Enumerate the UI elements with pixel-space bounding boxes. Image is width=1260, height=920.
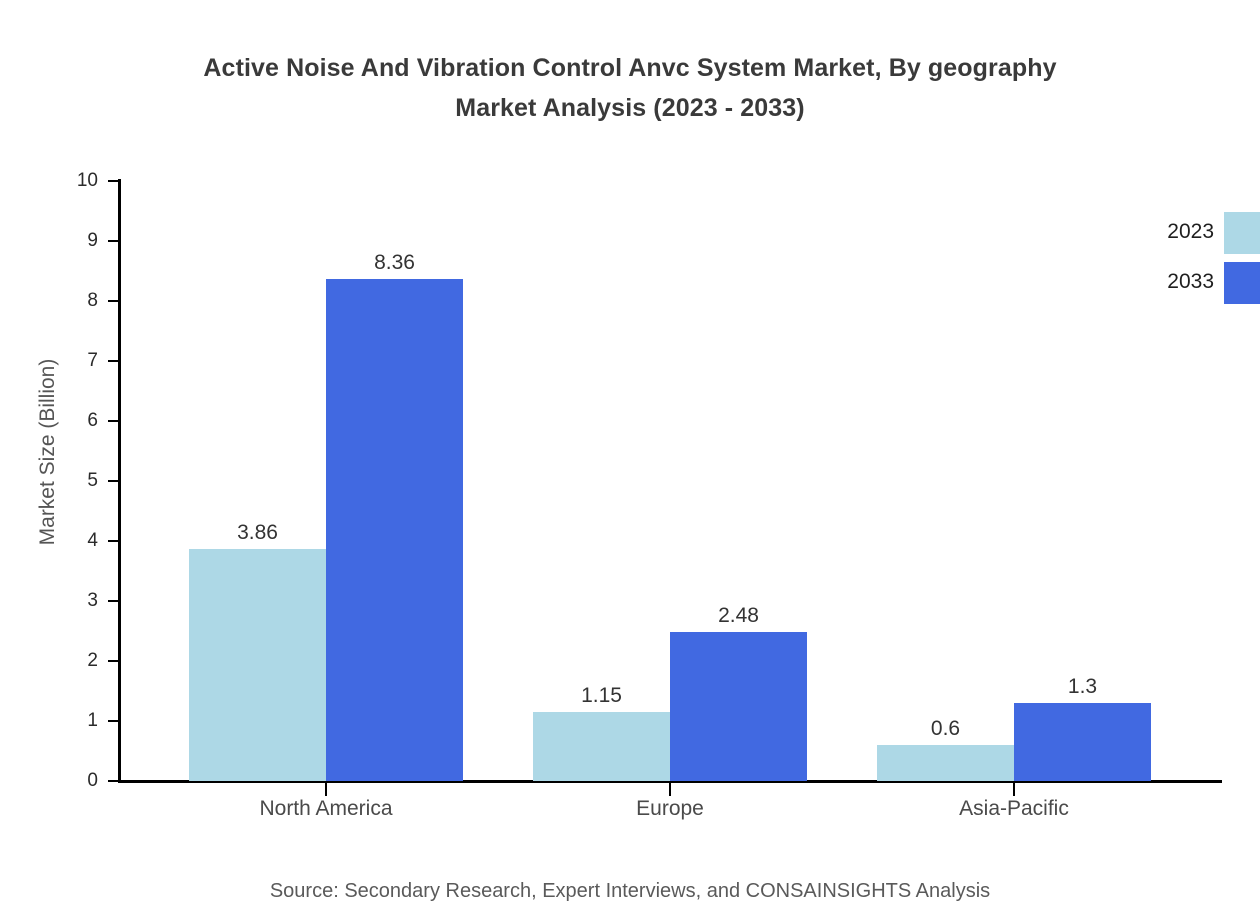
chart-figure: Active Noise And Vibration Control Anvc … bbox=[0, 0, 1260, 920]
y-tick-7 bbox=[108, 360, 120, 362]
bar-north-america-2033[interactable] bbox=[326, 279, 463, 781]
y-tick-4 bbox=[108, 540, 120, 542]
legend-label-2023: 2023 bbox=[1167, 220, 1214, 244]
chart-title-line-2: Market Analysis (2023 - 2033) bbox=[0, 88, 1260, 128]
bar-value-north-america-2023: 3.86 bbox=[178, 521, 338, 545]
chart-title: Active Noise And Vibration Control Anvc … bbox=[0, 48, 1260, 128]
y-tick-label-7: 7 bbox=[48, 351, 98, 370]
y-tick-3 bbox=[108, 600, 120, 602]
chart-title-line-1: Active Noise And Vibration Control Anvc … bbox=[0, 48, 1260, 88]
y-tick-1 bbox=[108, 720, 120, 722]
bar-europe-2023[interactable] bbox=[533, 712, 670, 781]
bar-value-asia-pacific-2023: 0.6 bbox=[866, 717, 1026, 741]
y-tick-5 bbox=[108, 480, 120, 482]
legend-swatch-2033 bbox=[1224, 262, 1260, 304]
bar-value-europe-2033: 2.48 bbox=[659, 604, 819, 628]
y-tick-label-0: 0 bbox=[48, 771, 98, 790]
bar-value-north-america-2033: 8.36 bbox=[315, 251, 475, 275]
bar-asia-pacific-2033[interactable] bbox=[1014, 703, 1151, 781]
y-tick-label-9: 9 bbox=[48, 231, 98, 250]
chart-legend: 2023 2033 bbox=[1060, 212, 1260, 312]
y-tick-label-4: 4 bbox=[48, 531, 98, 550]
y-tick-6 bbox=[108, 420, 120, 422]
bar-asia-pacific-2023[interactable] bbox=[877, 745, 1014, 781]
y-tick-label-6: 6 bbox=[48, 411, 98, 430]
x-tick-label-europe: Europe bbox=[500, 795, 840, 823]
y-tick-10 bbox=[108, 180, 120, 182]
y-tick-label-2: 2 bbox=[48, 651, 98, 670]
plot-area: 3.86 8.36 1.15 2.48 0.6 1.3 bbox=[120, 181, 1222, 781]
y-tick-label-3: 3 bbox=[48, 591, 98, 610]
y-tick-label-10: 10 bbox=[48, 171, 98, 190]
bar-value-asia-pacific-2033: 1.3 bbox=[1003, 675, 1163, 699]
y-tick-label-1: 1 bbox=[48, 711, 98, 730]
y-tick-label-5: 5 bbox=[48, 471, 98, 490]
y-tick-2 bbox=[108, 660, 120, 662]
legend-item-2033[interactable]: 2033 bbox=[1060, 262, 1260, 312]
legend-swatch-2023 bbox=[1224, 212, 1260, 254]
y-tick-label-8: 8 bbox=[48, 291, 98, 310]
legend-label-2033: 2033 bbox=[1167, 270, 1214, 294]
bar-value-europe-2023: 1.15 bbox=[522, 684, 682, 708]
x-tick-label-north-america: North America bbox=[156, 795, 496, 823]
x-tick-label-asia-pacific: Asia-Pacific bbox=[844, 795, 1184, 823]
bar-north-america-2023[interactable] bbox=[189, 549, 326, 781]
y-tick-0 bbox=[108, 780, 120, 782]
legend-item-2023[interactable]: 2023 bbox=[1060, 212, 1260, 262]
bar-europe-2033[interactable] bbox=[670, 632, 807, 781]
y-tick-9 bbox=[108, 240, 120, 242]
y-tick-8 bbox=[108, 300, 120, 302]
source-note: Source: Secondary Research, Expert Inter… bbox=[0, 878, 1260, 904]
